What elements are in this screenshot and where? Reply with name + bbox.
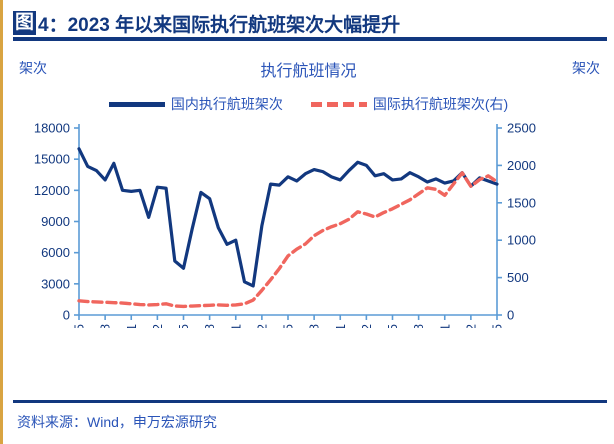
axis-lines: [74, 124, 502, 320]
svg-text:15000: 15000: [34, 152, 70, 167]
svg-text:12000: 12000: [34, 183, 70, 198]
legend-item-domestic: 国内执行航班架次: [109, 94, 283, 114]
svg-text:2022/02: 2022/02: [151, 324, 165, 328]
svg-text:2000: 2000: [507, 158, 536, 173]
svg-text:1500: 1500: [507, 195, 536, 210]
left-axis-tick-labels: 0300060009000120001500018000: [34, 121, 70, 323]
svg-text:0: 0: [507, 308, 514, 323]
x-axis-tick-labels: 2021/052021/082021/112022/022022/052022/…: [73, 324, 505, 328]
svg-text:2022/08: 2022/08: [203, 324, 217, 328]
legend-swatch-solid-icon: [109, 102, 165, 107]
figure-container: 图 4：2023 年以来国际执行航班架次大幅提升 架次 执行航班情况 架次 国内…: [0, 0, 614, 444]
figure-title: 4：2023 年以来国际执行航班架次大幅提升: [38, 10, 400, 37]
svg-text:1000: 1000: [507, 233, 536, 248]
svg-text:2021/11: 2021/11: [125, 324, 139, 328]
svg-text:6000: 6000: [41, 245, 70, 260]
svg-text:9000: 9000: [41, 214, 70, 229]
svg-text:2022/05: 2022/05: [177, 324, 191, 328]
legend-swatch-dashed-icon: [311, 102, 367, 107]
svg-text:2024/08: 2024/08: [412, 324, 426, 328]
svg-text:2022/11: 2022/11: [229, 324, 243, 328]
series-line-domestic: [79, 149, 497, 286]
svg-text:2025/05: 2025/05: [491, 324, 505, 328]
svg-text:2024/05: 2024/05: [386, 324, 400, 328]
svg-text:2021/05: 2021/05: [73, 324, 87, 328]
svg-text:2024/11: 2024/11: [438, 324, 452, 328]
svg-text:2023/05: 2023/05: [282, 324, 296, 328]
footer-divider: [13, 400, 607, 403]
right-axis-unit-label: 架次: [572, 58, 600, 78]
svg-text:18000: 18000: [34, 121, 70, 136]
title-divider: [13, 37, 607, 41]
legend-item-international: 国际执行航班架次(右): [311, 94, 508, 114]
svg-text:2023/11: 2023/11: [334, 324, 348, 328]
legend-label-international: 国际执行航班架次(右): [373, 94, 508, 114]
svg-text:3000: 3000: [41, 276, 70, 291]
chart-title: 执行航班情况: [3, 57, 614, 81]
right-axis-tick-labels: 05001000150020002500: [507, 121, 536, 323]
svg-text:2021/08: 2021/08: [99, 324, 113, 328]
svg-text:2500: 2500: [507, 121, 536, 136]
chart-legend: 国内执行航班架次 国际执行航班架次(右): [3, 94, 614, 114]
figure-badge: 图: [13, 11, 36, 35]
svg-text:2023/08: 2023/08: [308, 324, 322, 328]
plot-area: 0300060009000120001500018000 05001000150…: [3, 118, 614, 328]
svg-text:500: 500: [507, 270, 529, 285]
chart-svg: 0300060009000120001500018000 05001000150…: [3, 118, 614, 328]
svg-text:2023/02: 2023/02: [255, 324, 269, 328]
svg-text:2024/02: 2024/02: [360, 324, 374, 328]
legend-label-domestic: 国内执行航班架次: [171, 94, 283, 114]
svg-text:2025/02: 2025/02: [464, 324, 478, 328]
source-note: 资料来源：Wind，申万宏源研究: [17, 412, 217, 432]
figure-header: 图 4：2023 年以来国际执行航班架次大幅提升: [13, 8, 606, 38]
svg-text:0: 0: [63, 308, 70, 323]
